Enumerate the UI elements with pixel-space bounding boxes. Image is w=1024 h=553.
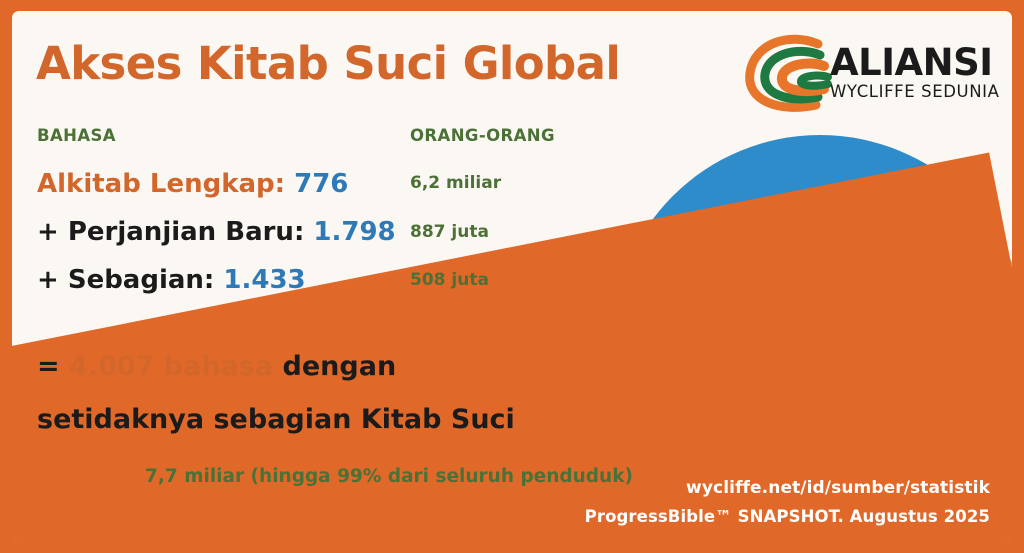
- summary-total-word: bahasa: [164, 351, 273, 382]
- stat-number-portions: 1.433: [223, 265, 305, 295]
- people-value-portions: 508 juta: [410, 270, 489, 290]
- stat-number-new-testament: 1.798: [313, 217, 395, 247]
- wycliffe-arcs-logo-icon: [744, 33, 836, 113]
- summary-total-number: 4.007: [69, 351, 154, 382]
- stat-label-new-testament: + Perjanjian Baru:: [37, 217, 304, 247]
- column-header-languages: BAHASA: [37, 126, 116, 145]
- summary-equals-sign: =: [37, 351, 60, 382]
- footer-url[interactable]: wycliffe.net/id/sumber/statistik: [585, 478, 990, 498]
- summary-line-1: = 4.007 bahasa dengan: [37, 351, 396, 382]
- wycliffe-logo: ALIANSI WYCLIFFE SEDUNIA: [744, 29, 1002, 117]
- column-header-people: ORANG-ORANG: [410, 126, 555, 145]
- logo-subtitle: WYCLIFFE SEDUNIA: [830, 83, 1000, 101]
- stat-row: + Perjanjian Baru: 1.798: [37, 217, 396, 247]
- logo-text-block: ALIANSI WYCLIFFE SEDUNIA: [830, 45, 1000, 101]
- stat-label-portions: + Sebagian:: [37, 265, 214, 295]
- footer-source: ProgressBible™ SNAPSHOT. Augustus 2025: [585, 507, 990, 526]
- stat-row: Alkitab Lengkap: 776: [37, 169, 348, 199]
- summary-line1-tail: dengan: [283, 351, 397, 382]
- stat-label-complete-bible: Alkitab Lengkap:: [37, 169, 285, 199]
- stat-row: + Sebagian: 1.433: [37, 265, 306, 295]
- people-value-complete-bible: 6,2 miliar: [410, 173, 501, 193]
- summary-line-2: setidaknya sebagian Kitab Suci: [37, 404, 515, 435]
- footer-block: wycliffe.net/id/sumber/statistik Progres…: [585, 478, 990, 526]
- logo-name: ALIANSI: [830, 45, 1000, 81]
- infographic-canvas: Akses Kitab Suci Global BAHASA ORANG-ORA…: [0, 0, 1024, 553]
- stat-number-complete-bible: 776: [294, 169, 348, 199]
- people-value-new-testament: 887 juta: [410, 222, 489, 242]
- summary-footnote: 7,7 miliar (hingga 99% dari seluruh pend…: [145, 466, 633, 487]
- content-panel: Akses Kitab Suci Global BAHASA ORANG-ORA…: [12, 11, 1012, 542]
- page-title: Akses Kitab Suci Global: [36, 37, 620, 90]
